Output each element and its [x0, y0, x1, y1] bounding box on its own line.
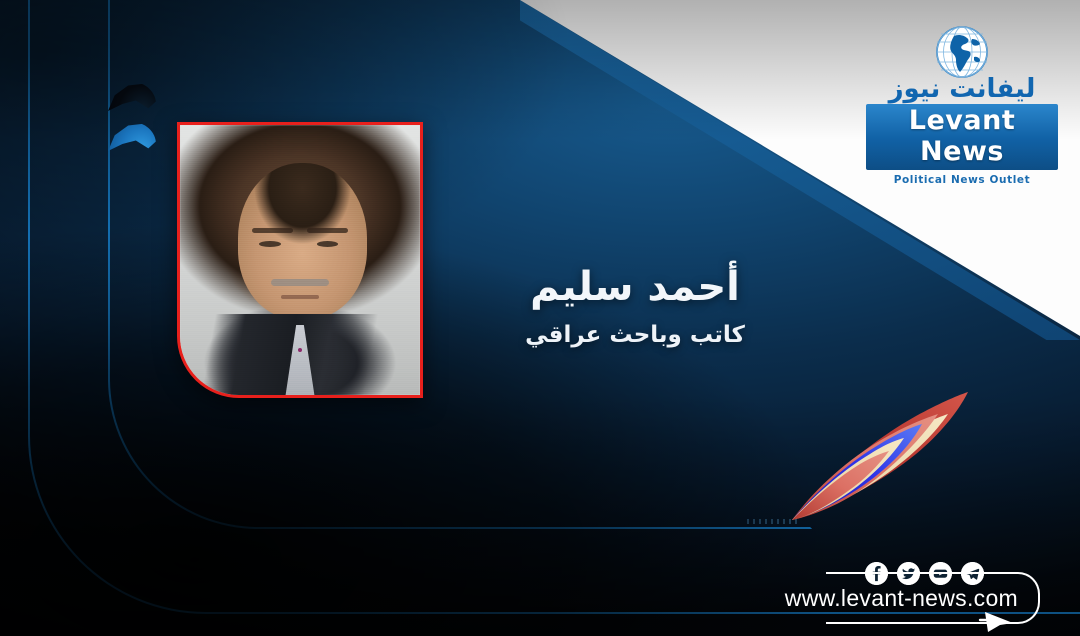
quote-mark-icon — [108, 122, 160, 174]
cursor-arrow-icon — [978, 600, 1018, 634]
brand-logo[interactable]: ليفانت نيوز Levant News Political News O… — [866, 24, 1058, 186]
social-card: أحمد سليم كاتب وباحث عراقي — [0, 0, 1080, 636]
logo-tagline: Political News Outlet — [866, 174, 1058, 186]
logo-english-name: Levant News — [866, 104, 1058, 170]
portrait-grain-overlay — [180, 125, 420, 395]
feather-icon — [770, 372, 980, 537]
person-role: كاتب وباحث عراقي — [450, 322, 820, 348]
logo-arabic-name: ليفانت نيوز — [866, 76, 1058, 102]
portrait-photo — [177, 122, 423, 398]
person-name: أحمد سليم — [450, 262, 820, 312]
person-text-block: أحمد سليم كاتب وباحث عراقي — [450, 262, 820, 348]
